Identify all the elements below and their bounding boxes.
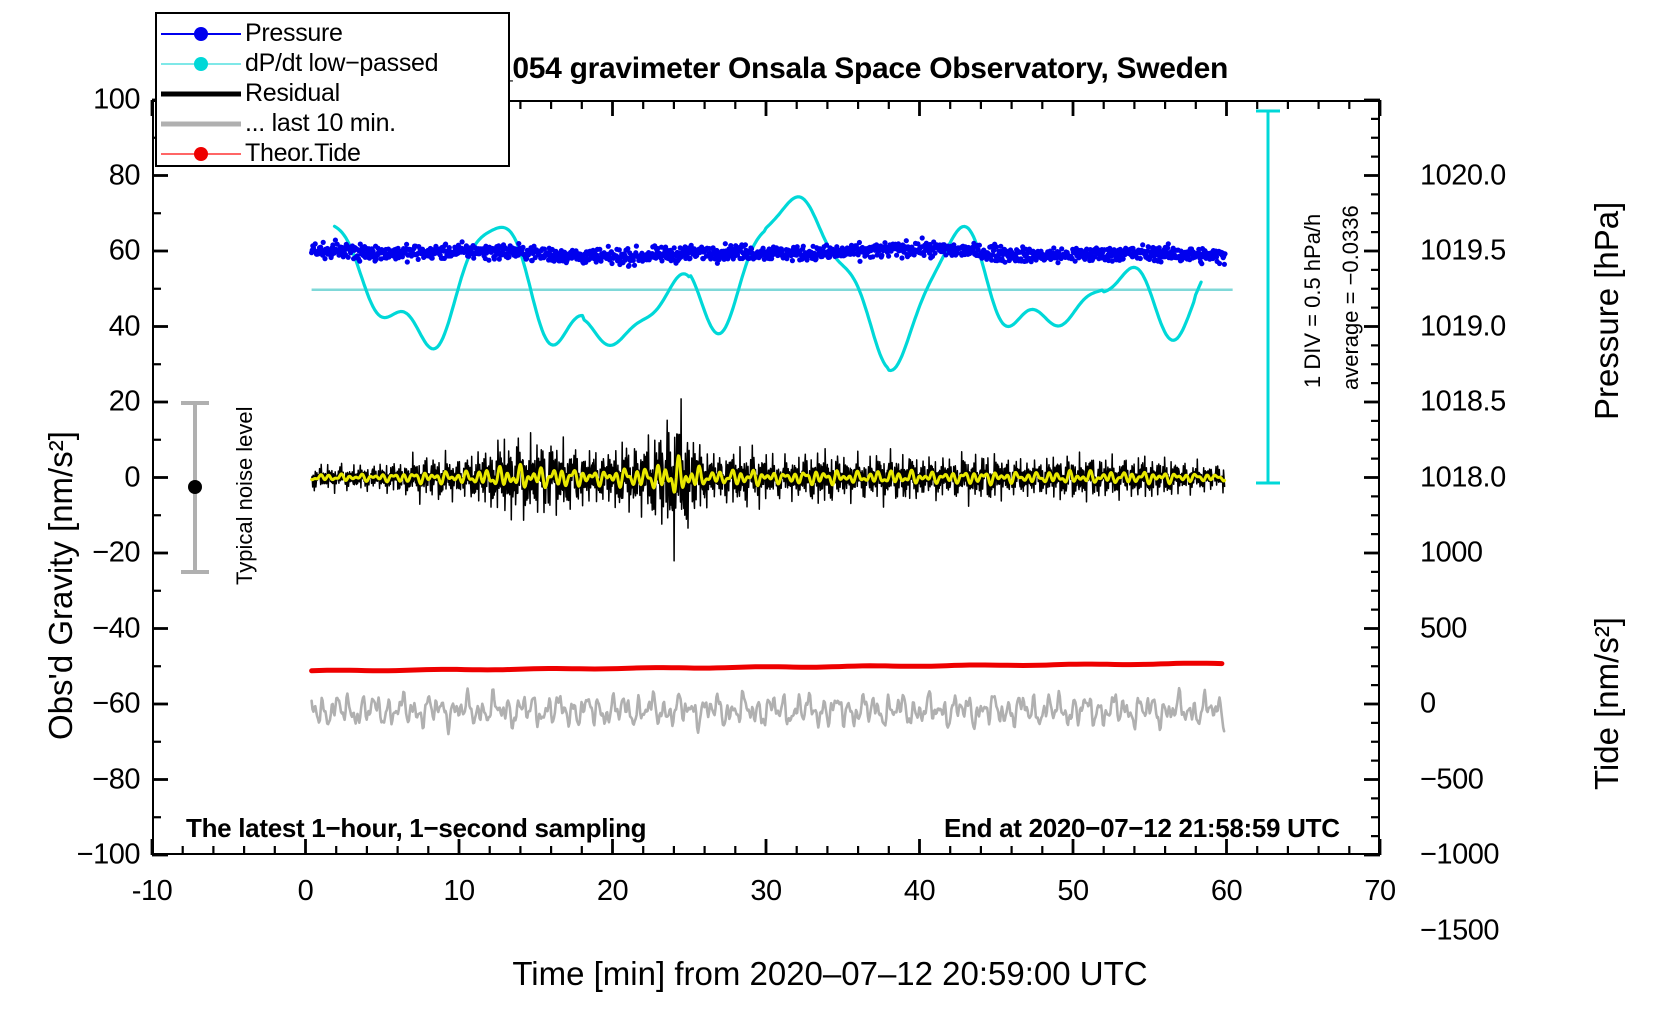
typical-noise-level-marker — [175, 395, 215, 580]
right-tide-axis-title: Tide [nm/s²] — [1588, 617, 1626, 790]
x-tick-label: 70 — [1364, 875, 1395, 908]
x-tick-label: 60 — [1211, 875, 1242, 908]
dpdt-scale-bar — [1248, 105, 1288, 490]
x-tick-label: 10 — [443, 875, 474, 908]
legend-swatch-theortide — [157, 139, 245, 168]
typical-noise-level-label: Typical noise level — [232, 406, 258, 585]
y-tick-label: −100 — [2, 839, 140, 872]
legend-label-pressure: Pressure — [245, 19, 343, 48]
y-tick-label: 100 — [2, 84, 140, 117]
y-tick-label: −80 — [2, 763, 140, 796]
legend: Pressure dP/dt low−passed Residual ... l… — [155, 12, 510, 167]
end-time-note: End at 2020−07−12 21:58:59 UTC — [944, 813, 1340, 844]
legend-swatch-residual — [157, 79, 245, 108]
legend-item-theortide[interactable]: Theor.Tide — [157, 139, 508, 168]
last-10-min-curve — [312, 688, 1225, 734]
pressure-tick-label: 1019.0 — [1420, 310, 1506, 343]
x-tick-label: 40 — [904, 875, 935, 908]
tide-tick-label: 1000 — [1420, 537, 1483, 570]
legend-item-last10[interactable]: ... last 10 min. — [157, 109, 508, 138]
y-tick-label: −40 — [2, 612, 140, 645]
pressure-tick-label: 1020.0 — [1420, 159, 1506, 192]
tide-tick-label: 500 — [1420, 612, 1467, 645]
pressure-tick-label: 1019.5 — [1420, 235, 1506, 268]
x-tick-label: 20 — [597, 875, 628, 908]
legend-label-dpdt: dP/dt low−passed — [245, 49, 438, 78]
dpdt-lowpassed-curve — [335, 197, 1202, 371]
legend-item-dpdt[interactable]: dP/dt low−passed — [157, 49, 508, 78]
y-tick-label: 40 — [2, 310, 140, 343]
y-tick-label: −60 — [2, 688, 140, 721]
legend-swatch-pressure — [157, 19, 245, 48]
average-label: average = −0.0336 — [1338, 205, 1364, 390]
x-tick-label: 50 — [1057, 875, 1088, 908]
div-scale-label: 1 DIV = 0.5 hPa/h — [1300, 214, 1326, 388]
pressure-tick-label: 1018.0 — [1420, 461, 1506, 494]
legend-label-residual: Residual — [245, 79, 340, 108]
legend-swatch-dpdt — [157, 49, 245, 78]
x-tick-label: -10 — [132, 875, 172, 908]
legend-swatch-last10 — [157, 109, 245, 138]
right-pressure-axis-title: Pressure [hPa] — [1588, 202, 1626, 420]
x-axis-tick-labels: -10010203040506070 — [0, 875, 1660, 920]
x-tick-label: 0 — [298, 875, 314, 908]
sampling-note: The latest 1−hour, 1−second sampling — [186, 813, 646, 844]
right-axis-tick-labels: 1020.01019.51019.01018.51018.010005000−5… — [1398, 0, 1538, 1020]
legend-label-last10: ... last 10 min. — [245, 109, 396, 138]
tide-tick-label: −500 — [1420, 763, 1483, 796]
pressure-tick-label: 1018.5 — [1420, 386, 1506, 419]
plot-canvas — [154, 102, 1378, 853]
legend-label-theortide: Theor.Tide — [245, 139, 361, 168]
legend-item-residual[interactable]: Residual — [157, 79, 508, 108]
y-tick-label: −20 — [2, 537, 140, 570]
y-axis-tick-labels: 100806040200−20−40−60−80−100 — [0, 0, 140, 1020]
tide-tick-label: −1000 — [1420, 839, 1499, 872]
y-tick-label: 0 — [2, 461, 140, 494]
theoretical-tide-curve — [312, 663, 1222, 671]
y-tick-label: 60 — [2, 235, 140, 268]
y-tick-label: 20 — [2, 386, 140, 419]
plot-area — [152, 100, 1380, 855]
pressure-scatter — [309, 235, 1228, 269]
legend-item-pressure[interactable]: Pressure — [157, 19, 508, 48]
y-tick-label: 80 — [2, 159, 140, 192]
tide-tick-label: 0 — [1420, 688, 1436, 721]
x-tick-label: 30 — [750, 875, 781, 908]
